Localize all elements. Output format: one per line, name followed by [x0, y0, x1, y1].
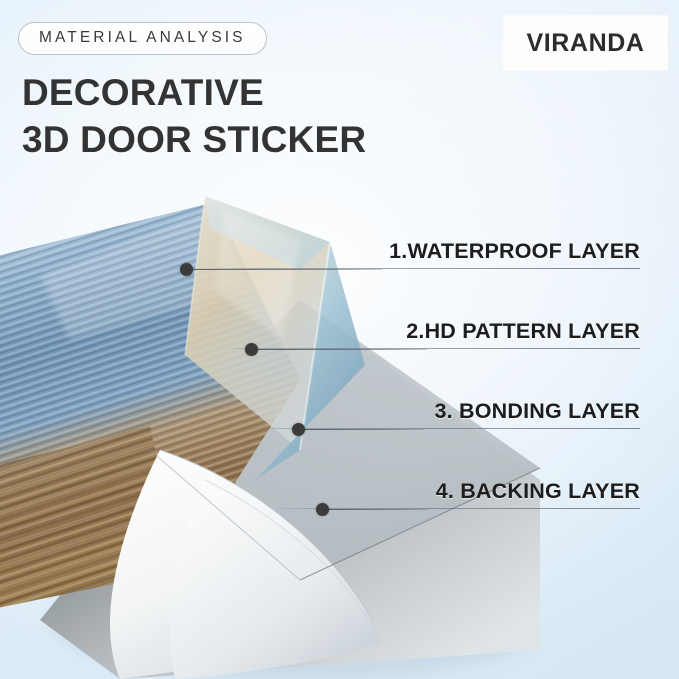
callout-label: 3. BONDING LAYER: [435, 399, 641, 424]
marker-dot-waterproof: [180, 263, 193, 276]
leader-line-backing: [328, 509, 428, 510]
callout-label: 1.WATERPROOF LAYER: [389, 239, 640, 264]
brand-logo-text: VIRANDA: [526, 29, 644, 58]
leader-line-bonding: [304, 429, 424, 430]
poster-canvas: MATERIAL ANALYSIS DECORATIVE 3D DOOR STI…: [0, 0, 679, 679]
leader-line-waterproof: [192, 269, 382, 270]
marker-dot-bonding: [292, 423, 305, 436]
leader-line-hd-pattern: [257, 349, 427, 350]
callout-label: 4. BACKING LAYER: [436, 479, 640, 504]
brand-logo: VIRANDA: [504, 16, 667, 70]
marker-dot-backing: [316, 503, 329, 516]
callout-label: 2.HD PATTERN LAYER: [406, 319, 640, 344]
marker-dot-hd-pattern: [245, 343, 258, 356]
eyebrow-badge: MATERIAL ANALYSIS: [18, 22, 267, 55]
